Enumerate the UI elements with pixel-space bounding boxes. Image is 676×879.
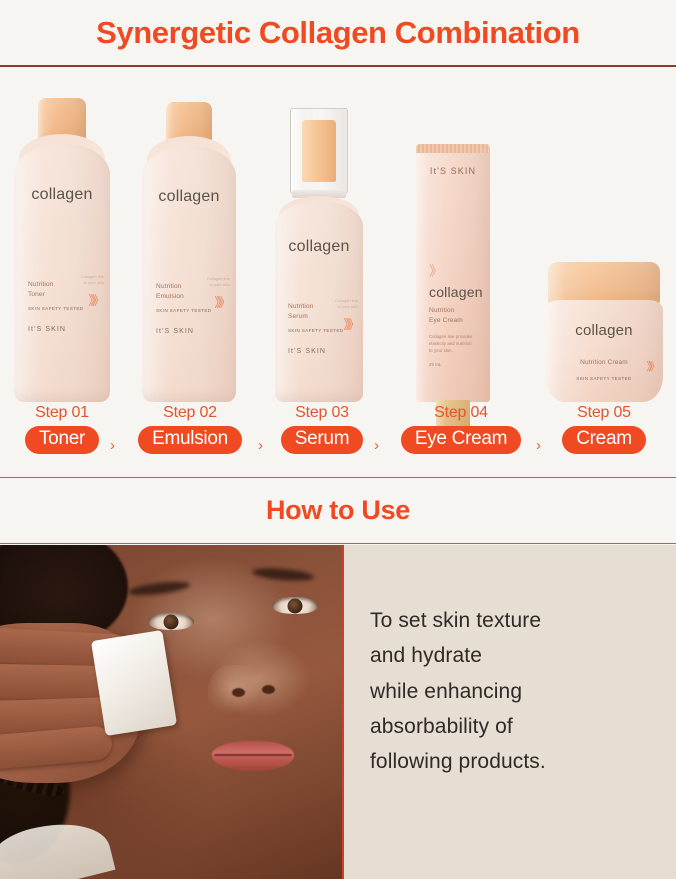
product-cream[interactable]: collagen Nutrition Cream SKIN SAFETY TES…	[545, 262, 663, 402]
lips	[212, 741, 294, 771]
step-arrow-4-icon: ›	[536, 438, 541, 453]
product-emulsion[interactable]: collagen Nutrition Emulsion SKIN SAFETY …	[142, 84, 236, 402]
usage-photo	[0, 545, 344, 879]
emulsion-line-name: collagen	[142, 188, 236, 206]
page-title: Synergetic Collagen Combination	[96, 15, 580, 51]
cream-product-name: Nutrition Cream	[545, 358, 663, 368]
eye-cream-brand: It'S SKIN	[416, 166, 490, 176]
serum-side-text: Collagen lineto your skin	[335, 298, 358, 311]
product-eye-cream[interactable]: It'S SKIN 》 collagen Nutrition Eye Cream…	[416, 102, 490, 402]
step-arrow-2-icon: ›	[258, 438, 263, 453]
emulsion-side-text: Collagen lineto your skin	[207, 276, 230, 289]
emulsion-chevron-icon: 》》	[214, 296, 228, 309]
emulsion-body: collagen Nutrition Emulsion SKIN SAFETY …	[142, 146, 236, 402]
usage-line-1: To set skin texture	[370, 603, 676, 638]
product-serum[interactable]: collagen Nutrition Serum SKIN SAFETY TES…	[275, 92, 363, 402]
cotton-pad	[91, 630, 177, 736]
serum-chevron-icon: 》》	[343, 318, 357, 331]
lip-line	[214, 754, 292, 756]
product-lineup: collagen Nutrition Toner SKIN SAFETY TES…	[0, 70, 676, 402]
step-05-pill[interactable]: Cream	[562, 426, 646, 454]
cream-line-name: collagen	[545, 322, 663, 339]
step-04-label: Step 04	[388, 404, 534, 422]
cream-jar-body: collagen Nutrition Cream SKIN SAFETY TES…	[545, 300, 663, 402]
step-05: Step 05 Cream	[550, 404, 658, 454]
emulsion-brand: It'S SKIN	[156, 328, 194, 335]
eye-cream-product-name-2: Eye Cream	[429, 316, 463, 326]
step-03: Step 03 Serum	[272, 404, 372, 454]
step-01-label: Step 01	[18, 404, 106, 422]
serum-tested: SKIN SAFETY TESTED	[288, 328, 343, 333]
toner-side-text: Collagen lineto your skin	[81, 274, 104, 287]
step-01-pill[interactable]: Toner	[25, 426, 99, 454]
toner-line-name: collagen	[14, 186, 110, 204]
serum-product-name-2: Serum	[288, 312, 308, 322]
emulsion-product-name-1: Nutrition	[156, 282, 182, 292]
step-03-label: Step 03	[272, 404, 372, 422]
step-02-pill[interactable]: Emulsion	[138, 426, 242, 454]
infographic-page: Synergetic Collagen Combination collagen…	[0, 0, 676, 879]
step-02-label: Step 02	[124, 404, 256, 422]
step-05-label: Step 05	[550, 404, 658, 422]
serum-line-name: collagen	[275, 238, 363, 256]
step-03-pill[interactable]: Serum	[281, 426, 363, 454]
usage-text-panel: To set skin texture and hydrate while en…	[344, 545, 676, 879]
product-toner[interactable]: collagen Nutrition Toner SKIN SAFETY TES…	[14, 82, 110, 402]
divider-top	[0, 65, 676, 67]
eye-cream-line-name: collagen	[416, 284, 503, 300]
toner-product-name-1: Nutrition	[28, 280, 54, 290]
eye-cream-description: Collagen line provides elasticity and nu…	[429, 334, 473, 355]
howto-heading: How to Use	[266, 495, 410, 526]
serum-body: collagen Nutrition Serum SKIN SAFETY TES…	[275, 202, 363, 402]
eye-cream-tube: It'S SKIN 》 collagen Nutrition Eye Cream…	[416, 144, 490, 402]
eye-cream-volume: 25 mL	[429, 362, 441, 367]
usage-line-4: absorbability of	[370, 709, 676, 744]
nostril-right	[262, 685, 275, 694]
cream-tested: SKIN SAFETY TESTED	[545, 376, 663, 381]
serum-brand: It'S SKIN	[288, 348, 326, 355]
eye-right	[272, 597, 318, 614]
emulsion-tested: SKIN SAFETY TESTED	[156, 308, 211, 313]
howto-band: How to Use	[0, 478, 676, 543]
howto-section: To set skin texture and hydrate while en…	[0, 545, 676, 879]
emulsion-product-name-2: Emulsion	[156, 292, 184, 302]
eye-cream-crimp	[416, 144, 490, 153]
serum-product-name-1: Nutrition	[288, 302, 314, 312]
step-02: Step 02 Emulsion	[124, 404, 256, 454]
usage-line-5: following products.	[370, 744, 676, 779]
step-arrow-1-icon: ›	[110, 438, 115, 453]
toner-brand: It'S SKIN	[28, 326, 66, 333]
usage-line-3: while enhancing	[370, 674, 676, 709]
step-01: Step 01 Toner	[18, 404, 106, 454]
cream-chevron-icon: 》》	[647, 362, 658, 373]
eye-left	[148, 613, 194, 630]
divider-howto-bottom	[0, 543, 676, 544]
title-band: Synergetic Collagen Combination	[0, 0, 676, 66]
usage-line-2: and hydrate	[370, 638, 676, 673]
step-04: Step 04 Eye Cream	[388, 404, 534, 454]
toner-product-name-2: Toner	[28, 290, 45, 300]
step-sequence: Step 01 Toner › Step 02 Emulsion › Step …	[0, 404, 676, 466]
eye-cream-chevron-icon: 》	[429, 264, 440, 278]
toner-chevron-icon: 》》	[88, 294, 102, 307]
serum-pump	[302, 120, 336, 182]
iris-right	[288, 598, 303, 613]
iris-left	[164, 614, 179, 629]
toner-tested: SKIN SAFETY TESTED	[28, 306, 83, 311]
step-04-pill[interactable]: Eye Cream	[401, 426, 521, 454]
step-arrow-3-icon: ›	[374, 438, 379, 453]
toner-body: collagen Nutrition Toner SKIN SAFETY TES…	[14, 144, 110, 402]
nostril-left	[232, 688, 245, 697]
eye-cream-product-name-1: Nutrition	[429, 306, 455, 316]
